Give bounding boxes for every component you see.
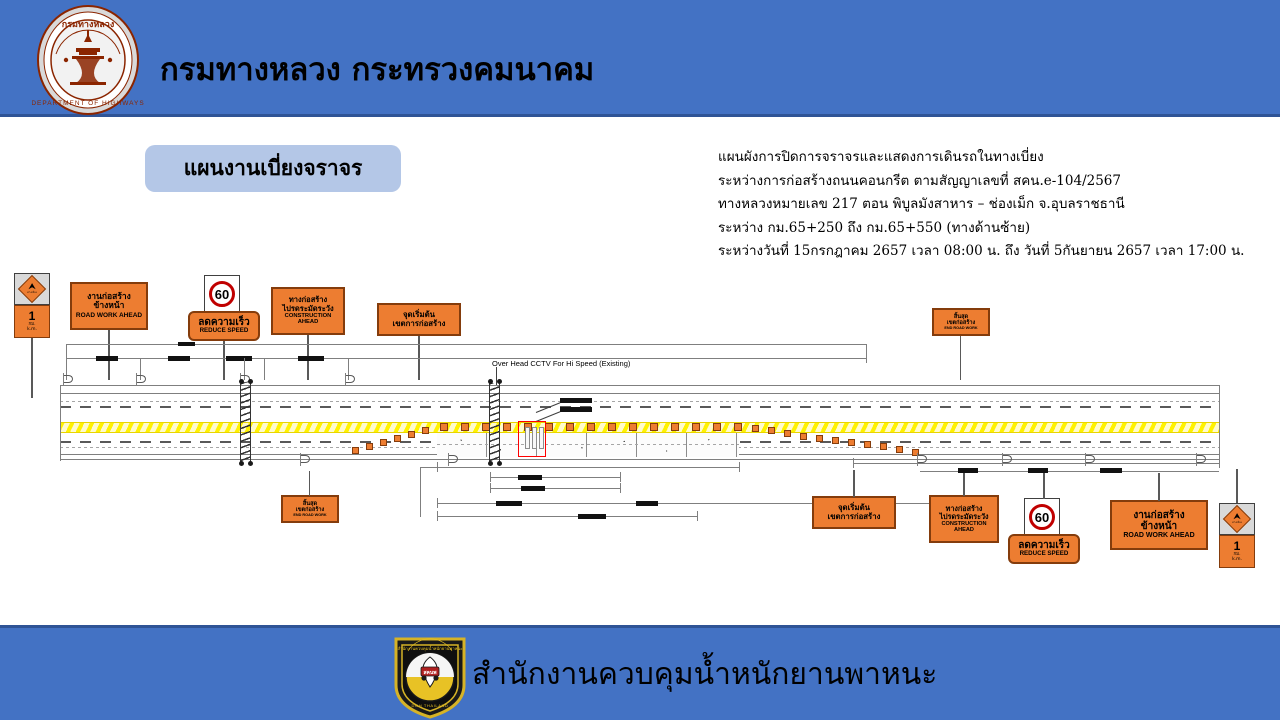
median-hatch — [60, 422, 1220, 433]
plan-type-label: แผนงานเบี่ยงจราจร — [184, 152, 363, 185]
barrel — [629, 423, 637, 431]
dimension-label — [958, 468, 978, 473]
overhead-gantry-cctv — [489, 383, 500, 463]
dimension-tick — [620, 483, 621, 493]
cctv-label: Over Head CCTV For Hi Speed (Existing) — [492, 359, 630, 368]
description-line: แผนผังการปิดการจราจรและแสดงการเดินรถในทา… — [718, 146, 1278, 170]
svg-text:สคนพ: สคนพ — [423, 670, 437, 676]
dimension-label — [168, 356, 190, 361]
barrel — [461, 423, 469, 431]
dimension-extension — [420, 467, 438, 468]
sign-line-th: ไปรดระมัดระวัง — [939, 513, 988, 521]
overhead-gantry — [240, 383, 251, 463]
dimension-tick — [490, 483, 491, 493]
dimension-label — [521, 486, 545, 491]
gantry-foot — [497, 379, 502, 384]
traffic-cone — [816, 435, 823, 442]
distance-plate: 1 กม. k.m. — [14, 305, 50, 338]
dimension-tick — [620, 472, 621, 482]
traffic-cone — [768, 427, 775, 434]
barrel — [692, 423, 700, 431]
sign-line-th: งานก่อสร้าง — [1133, 510, 1184, 521]
traffic-cone — [752, 425, 759, 432]
road-edge-top — [60, 385, 1220, 386]
dimension-line — [437, 467, 739, 468]
dimension-label — [496, 501, 522, 506]
traffic-cone — [784, 430, 791, 437]
construction-ahead-left: ทางก่อสร้าง ไปรดระมัดระวัง CONSTRUCTION … — [271, 287, 345, 335]
footer-title: สำนักงานควบคุมน้ำหนักยานพาหนะ — [472, 651, 937, 698]
department-of-highways-seal-icon: กรมทางหลวง DEPARTMENT OF HIGHWAYS — [32, 4, 144, 116]
barrel — [650, 423, 658, 431]
dimension-label — [518, 475, 542, 480]
barrier-element — [525, 427, 530, 449]
dimension-extension — [420, 467, 421, 517]
road-edge-bottom — [60, 459, 1220, 460]
traffic-cone — [408, 431, 415, 438]
diversion-warning-plate: ⮝ ทางเบี่ยง — [14, 273, 50, 305]
sign-post — [963, 470, 965, 496]
traffic-cone — [848, 439, 855, 446]
gantry-foot — [248, 379, 253, 384]
gantry-foot — [488, 379, 493, 384]
traffic-cone — [864, 441, 871, 448]
vehicle-weight-control-office-badge-icon: สคนพ สำนักงานควบคุมน้ำหนักยานพาหนะ DOH T… — [390, 635, 470, 719]
barrel — [503, 423, 511, 431]
construction-ahead-right: ทางก่อสร้าง ไปรดระมัดระวัง CONSTRUCTION … — [929, 495, 999, 543]
road-end-right — [1219, 385, 1220, 461]
distance-unit-en: k.m. — [1232, 558, 1242, 563]
plan-type-badge: แผนงานเบี่ยงจราจร — [145, 145, 401, 192]
up-arrow-icon: ⮝ ทางเบี่ยง — [1223, 505, 1251, 533]
dimension-line — [437, 516, 697, 517]
sign-post — [223, 341, 225, 380]
sign-line-en: ROAD WORK AHEAD — [76, 312, 142, 319]
sign-post — [1043, 471, 1045, 499]
sign-line-th: ข้างหน้า — [1141, 521, 1177, 532]
road-end-left — [60, 385, 61, 461]
traffic-cone — [366, 443, 373, 450]
sign-line-th: เขตการก่อสร้าง — [393, 320, 446, 329]
sign-post — [31, 338, 33, 398]
traffic-cone — [832, 437, 839, 444]
diamond-sign-text: ทางเบี่ยง — [27, 292, 37, 295]
sign-line-en: END ROAD WORK — [944, 326, 977, 330]
traffic-cone — [380, 439, 387, 446]
detail-label — [560, 407, 592, 412]
traffic-cone — [800, 433, 807, 440]
road-work-ahead-left: งานก่อสร้าง ข้างหน้า ROAD WORK AHEAD — [70, 282, 148, 330]
plan-description-block: แผนผังการปิดการจราจรและแสดงการเดินรถในทา… — [718, 146, 1278, 264]
sign-post — [309, 471, 310, 496]
svg-text:DOH THAILAND: DOH THAILAND — [412, 703, 449, 708]
reduce-speed-left: ลดความเร็ว REDUCE SPEED — [188, 311, 260, 341]
traffic-diversion-diagram: ⮝ ทางเบี่ยง 1 กม. k.m. งานก่อสร้าง ข้างห… — [0, 255, 1280, 615]
slide-header: กรมทางหลวง DEPARTMENT OF HIGHWAYS กรมทาง… — [0, 0, 1280, 117]
description-line: ระหว่าง กม.65+250 ถึง กม.65+550 (ทางด้าน… — [718, 217, 1278, 241]
speed-limit-plate-right: 60 — [1024, 498, 1060, 536]
dimension-label — [1028, 468, 1048, 473]
lane-line-fine — [60, 401, 1220, 402]
traffic-cone — [352, 447, 359, 454]
sign-line-en: REDUCE SPEED — [1020, 551, 1069, 558]
sign-post — [108, 330, 110, 380]
barrel — [566, 423, 574, 431]
sign-post — [960, 336, 961, 380]
traffic-cone — [394, 435, 401, 442]
dimension-line — [853, 463, 1219, 464]
warn-assembly-right: ⮝ ทางเบี่ยง 1 กม. k.m. — [1219, 503, 1255, 581]
sign-line-en: AHEAD — [298, 319, 319, 325]
gantry-foot — [248, 461, 253, 466]
speed-limit-value: 60 — [209, 281, 235, 307]
barrel — [608, 423, 616, 431]
work-zone-start-right: จุดเริ่มต้น เขตการก่อสร้าง — [812, 496, 896, 529]
gantry-foot — [488, 461, 493, 466]
dimension-label — [96, 356, 118, 361]
sign-post — [1158, 473, 1160, 501]
page-title: กรมทางหลวง กระทรวงคมนาคม — [160, 44, 594, 94]
svg-text:DEPARTMENT OF HIGHWAYS: DEPARTMENT OF HIGHWAYS — [32, 100, 144, 107]
dimension-tick — [866, 353, 867, 363]
sign-post — [853, 470, 855, 497]
sign-line-en: AHEAD — [954, 527, 974, 533]
diversion-warning-plate: ⮝ ทางเบี่ยง — [1219, 503, 1255, 535]
speed-limit-sign-face: 60 — [1024, 498, 1060, 536]
dimension-label — [578, 514, 606, 519]
road-work-ahead-right: งานก่อสร้าง ข้างหน้า ROAD WORK AHEAD — [1110, 500, 1208, 550]
traffic-cone — [422, 427, 429, 434]
dimension-tick — [853, 458, 854, 468]
distance-plate: 1 กม. k.m. — [1219, 535, 1255, 568]
dimension-label — [226, 356, 252, 361]
barrel — [440, 423, 448, 431]
dimension-tick — [1219, 458, 1220, 468]
sign-line-en: REDUCE SPEED — [200, 328, 249, 335]
construction-work-zone — [437, 433, 739, 457]
dimension-line — [490, 477, 620, 478]
workzone-center-line — [437, 444, 739, 445]
description-line: ระหว่างการก่อสร้างถนนคอนกรีต ตามสัญญาเลข… — [718, 170, 1278, 194]
gantry-foot — [497, 461, 502, 466]
dimension-label — [1100, 468, 1122, 473]
svg-text:กรมทางหลวง: กรมทางหลวง — [62, 20, 115, 30]
sign-line-en: ROAD WORK AHEAD — [1123, 532, 1194, 540]
dimension-tick — [437, 511, 438, 521]
dimension-label — [178, 342, 195, 346]
barrel — [587, 423, 595, 431]
barrier-element — [539, 427, 544, 449]
diamond-sign-text: ทางเบี่ยง — [1232, 522, 1242, 525]
sign-line-th: ข้างหน้า — [94, 302, 125, 312]
slide-canvas: กรมทางหลวง DEPARTMENT OF HIGHWAYS กรมทาง… — [0, 0, 1280, 720]
slide-footer: สคนพ สำนักงานควบคุมน้ำหนักยานพาหนะ DOH T… — [0, 625, 1280, 720]
sign-line-th: ไปรดระมัดระวัง — [282, 305, 333, 313]
barrier-element — [532, 427, 537, 449]
work-zone-start-left: จุดเริ่มต้น เขตการก่อสร้าง — [377, 303, 461, 336]
speed-limit-sign-face: 60 — [204, 275, 240, 313]
up-arrow-icon: ⮝ ทางเบี่ยง — [18, 275, 46, 303]
barrel — [671, 423, 679, 431]
dimension-tick — [437, 498, 438, 508]
dimension-tick — [490, 472, 491, 482]
end-road-work-bottom-left: สิ้นสุด เขตก่อสร้าง END ROAD WORK — [281, 495, 339, 523]
dimension-label — [636, 501, 658, 506]
distance-unit-en: k.m. — [27, 328, 37, 333]
dimension-tick — [739, 462, 740, 472]
sign-line-th: เขตการก่อสร้าง — [828, 513, 881, 522]
dimension-extension — [264, 358, 265, 380]
end-road-work-top-right: สิ้นสุด เขตก่อสร้าง END ROAD WORK — [932, 308, 990, 336]
warn-assembly-left: ⮝ ทางเบี่ยง 1 กม. k.m. — [14, 273, 50, 351]
sign-post — [1236, 469, 1238, 503]
reduce-speed-right: ลดความเร็ว REDUCE SPEED — [1008, 534, 1080, 564]
detail-label — [560, 398, 592, 403]
sign-line-en: END ROAD WORK — [293, 513, 326, 517]
gantry-foot — [239, 461, 244, 466]
dimension-tick — [697, 511, 698, 521]
barrel — [713, 423, 721, 431]
speed-limit-plate-left: 60 — [204, 275, 240, 313]
lane-line-dashed — [60, 406, 1220, 408]
traffic-cone — [880, 443, 887, 450]
dimension-line — [490, 488, 620, 489]
traffic-cone — [896, 446, 903, 453]
speed-limit-value: 60 — [1029, 504, 1055, 530]
svg-text:สำนักงานควบคุมน้ำหนักยานพาหนะ: สำนักงานควบคุมน้ำหนักยานพาหนะ — [398, 645, 463, 652]
road-shoulder-line-top — [60, 393, 1220, 394]
barrel — [734, 423, 742, 431]
gantry-foot — [239, 379, 244, 384]
description-line: ทางหลวงหมายเลข 217 ตอน พิบูลมังสาหาร – ช… — [718, 193, 1278, 217]
barrel — [545, 423, 553, 431]
dimension-label — [298, 356, 324, 361]
